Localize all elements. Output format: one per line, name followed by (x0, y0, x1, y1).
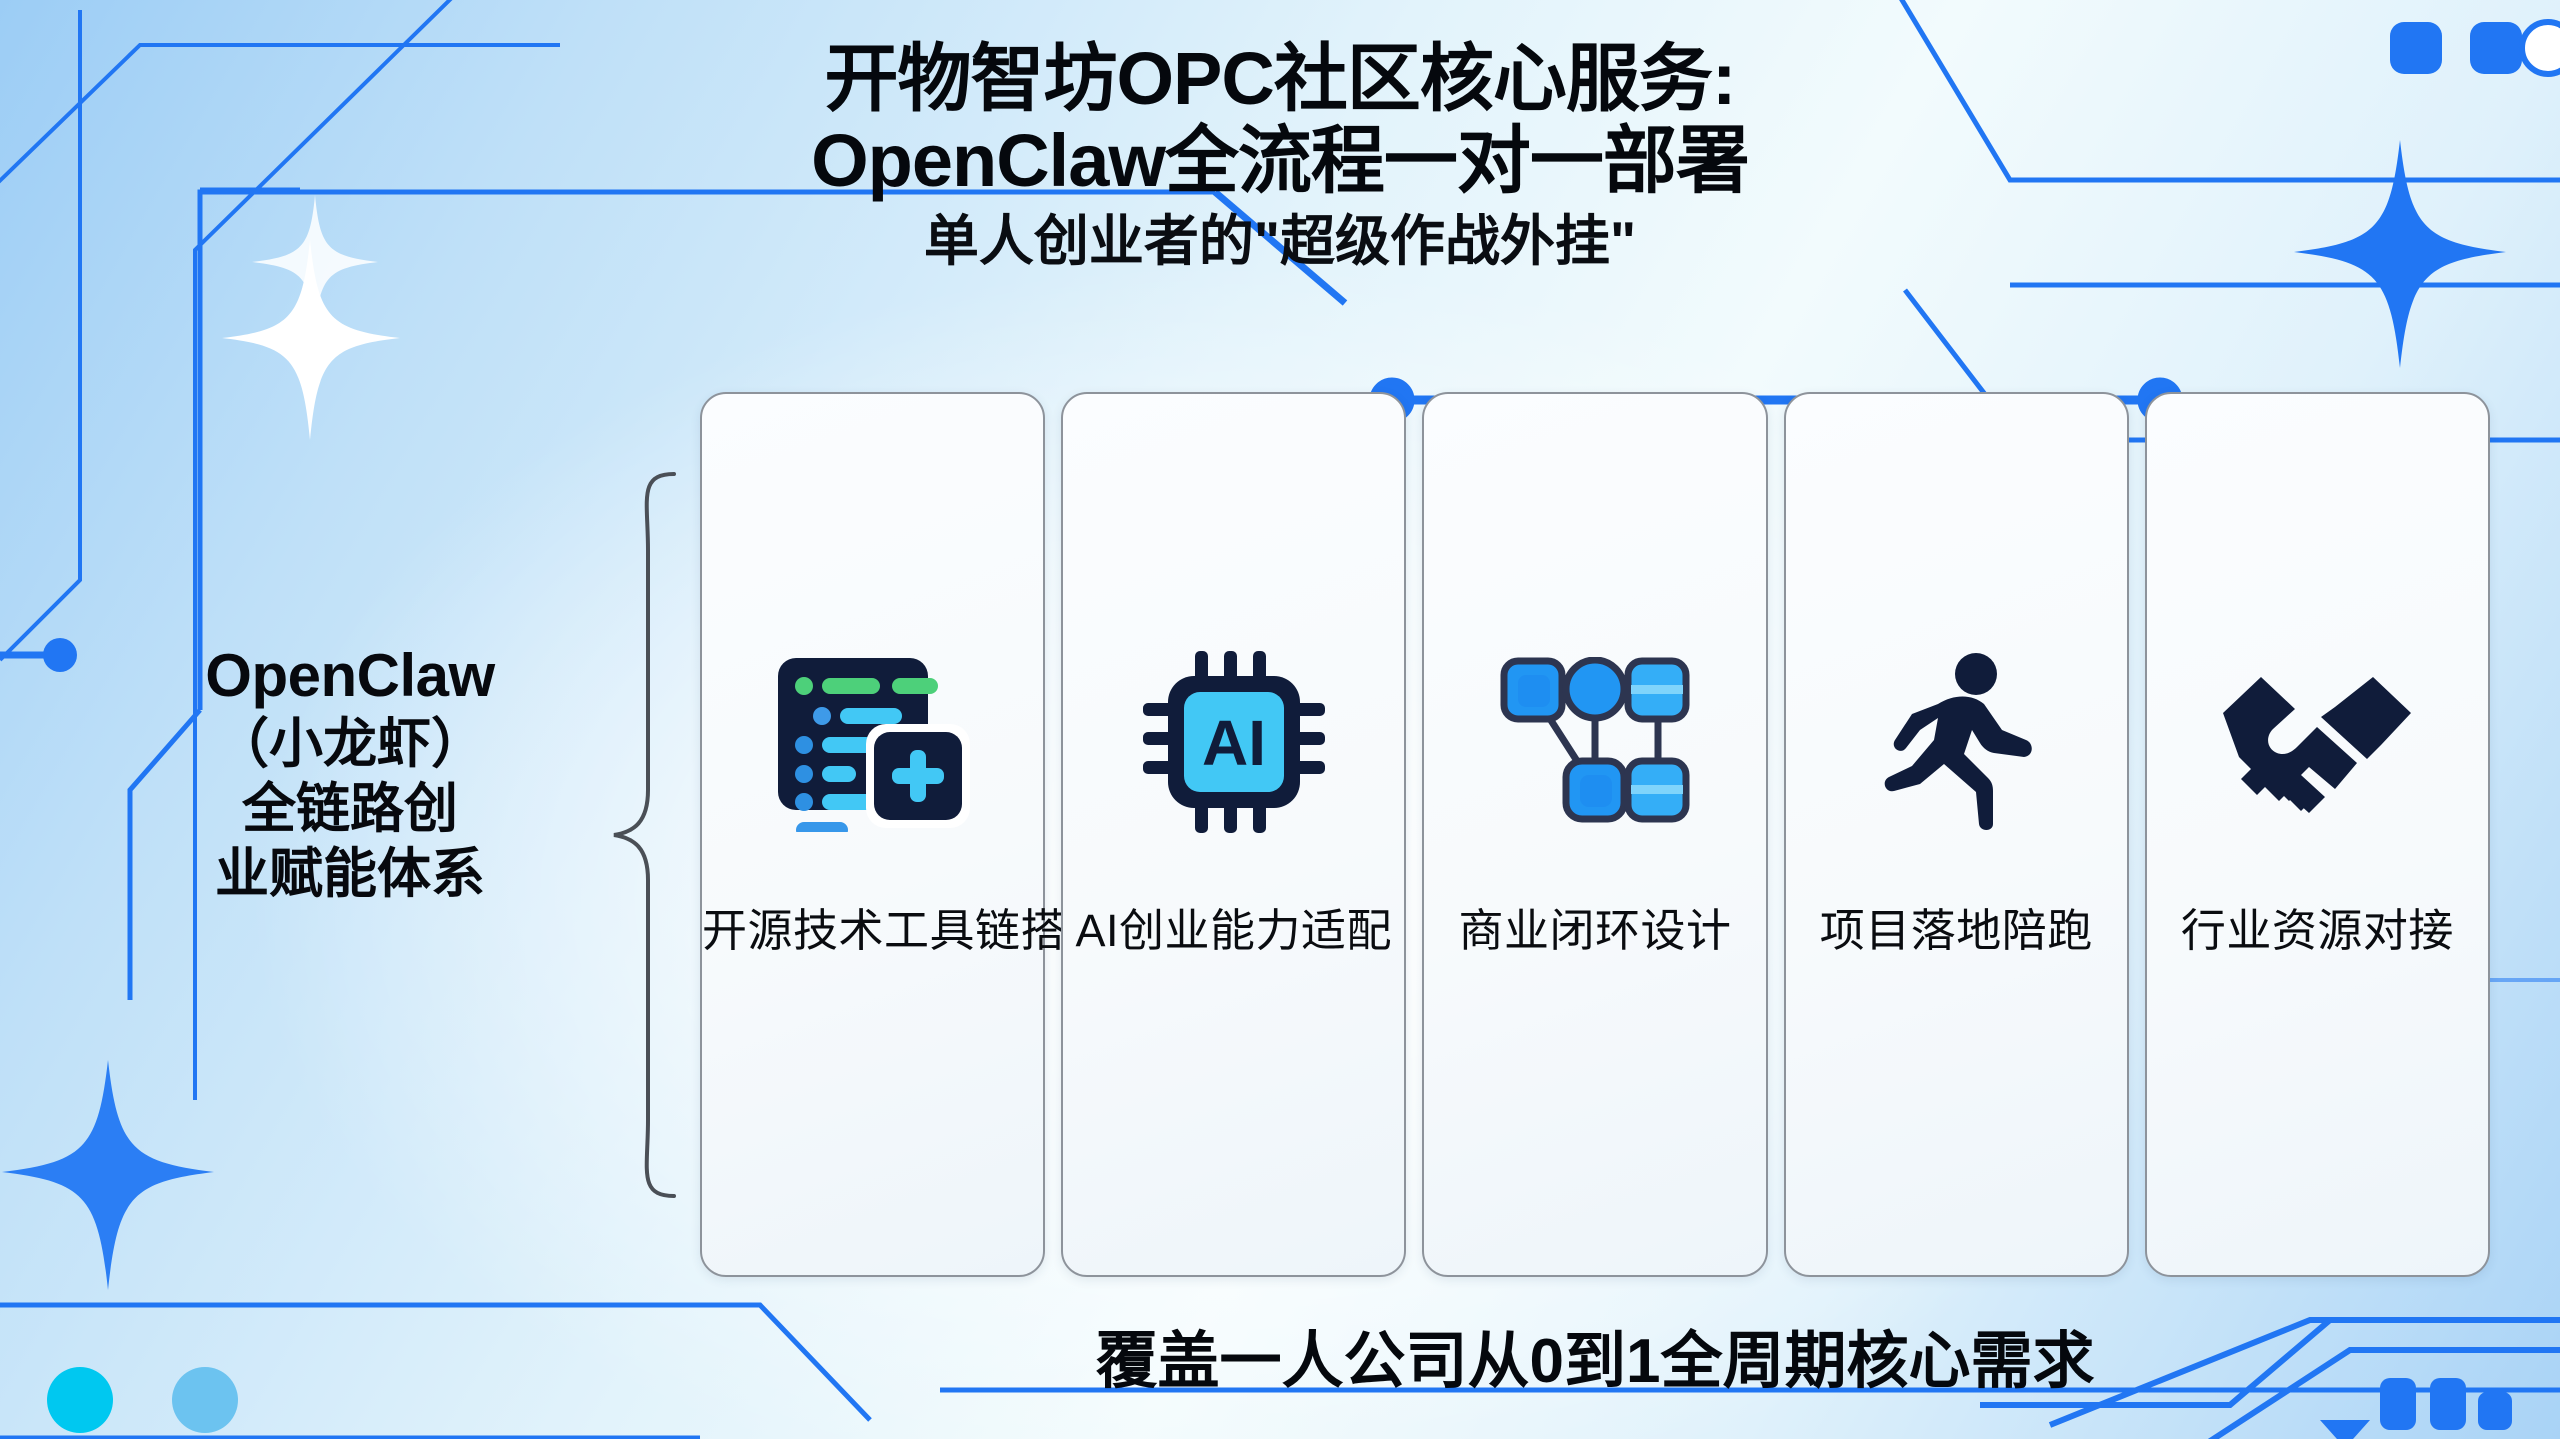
service-card[interactable]: 行业资源对接 (2145, 392, 2490, 1277)
service-card[interactable]: AI AI创业能力适配 (1061, 392, 1406, 1277)
title-line-1: 开物智坊OPC社区核心服务: (0, 40, 2560, 118)
slide-canvas: 开物智坊OPC社区核心服务: OpenClaw全流程一对一部署 单人创业者的"超… (0, 0, 2560, 1439)
sparkle-blue-bottom-left (2, 1060, 214, 1290)
service-card-label: AI创业能力适配 (1063, 894, 1404, 959)
slide-subtitle: 单人创业者的"超级作战外挂" (0, 211, 2560, 272)
system-label: OpenClaw （小龙虾） 全链路创 业赋能体系 (110, 640, 590, 906)
system-label-brand: OpenClaw (110, 640, 590, 712)
system-label-line1: 全链路创 (110, 777, 590, 842)
service-card[interactable]: 项目落地陪跑 (1784, 392, 2129, 1277)
svg-text:AI: AI (1202, 707, 1266, 779)
ai-chip-icon: AI (1063, 642, 1404, 842)
grouping-brace (608, 470, 678, 1200)
system-label-line2: 业赋能体系 (110, 842, 590, 907)
service-card-label: 项目落地陪跑 (1786, 894, 2127, 959)
handshake-icon (2147, 642, 2488, 842)
running-person-icon (1786, 642, 2127, 842)
system-label-alias: （小龙虾） (110, 712, 590, 777)
service-card[interactable]: 商业闭环设计 (1422, 392, 1767, 1277)
network-nodes-icon (1424, 642, 1765, 842)
slide-footer: 覆盖一人公司从0到1全周期核心需求 (700, 1310, 2490, 1400)
service-card-label: 商业闭环设计 (1424, 894, 1765, 959)
service-card[interactable]: 开源技术工具链搭建 (700, 392, 1045, 1277)
code-window-plus-icon (702, 642, 1043, 842)
service-card-rail: 开源技术工具链搭建 (700, 392, 2490, 1277)
title-line-2: OpenClaw全流程一对一部署 (0, 122, 2560, 200)
service-card-label: 行业资源对接 (2147, 894, 2488, 959)
slide-header: 开物智坊OPC社区核心服务: OpenClaw全流程一对一部署 单人创业者的"超… (0, 40, 2560, 271)
bottomleft-dots (47, 1367, 238, 1433)
service-card-label: 开源技术工具链搭建 (702, 894, 1043, 959)
